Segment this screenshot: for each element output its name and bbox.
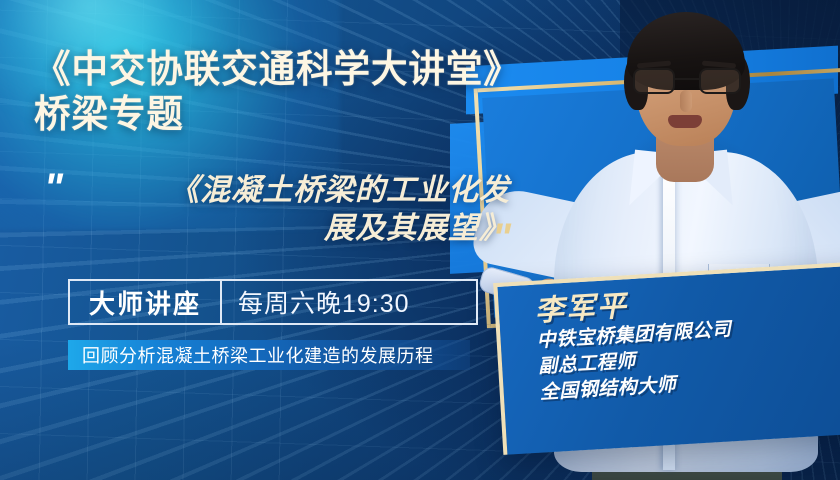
headline-line-2: 桥梁专题: [34, 93, 514, 138]
lecture-subtitle: 《混凝土桥梁的工业化发 展及其展望》: [90, 172, 510, 249]
lecture-info-box: 大师讲座 每周六晚19:30: [68, 279, 478, 325]
glasses-icon: [633, 68, 741, 94]
lecture-series-label: 大师讲座: [70, 281, 222, 323]
subtitle-line-1: 《混凝土桥梁的工业化发: [90, 172, 510, 210]
lecture-schedule: 每周六晚19:30: [222, 281, 476, 323]
portrait-mouth: [668, 115, 702, 128]
subtitle-line-2: 展及其展望》: [90, 210, 510, 248]
headline-line-1: 《中交协联交通科学大讲堂》: [34, 48, 514, 93]
quote-mark-close: ": [492, 218, 509, 258]
speaker-info-text: 李军平 中铁宝桥集团有限公司 副总工程师 全国钢结构大师: [493, 261, 840, 455]
caption-text: 回顾分析混凝土桥梁工业化建造的发展历程: [82, 342, 434, 368]
quote-mark-open: ": [44, 168, 61, 208]
caption-bar: 回顾分析混凝土桥梁工业化建造的发展历程: [68, 340, 470, 370]
subtitle-quote-block: " 《混凝土桥梁的工业化发 展及其展望》 ": [44, 168, 544, 278]
event-poster: 李军平 中铁宝桥集团有限公司 副总工程师 全国钢结构大师 《中交协联交通科学大讲…: [0, 0, 840, 480]
page-title: 《中交协联交通科学大讲堂》 桥梁专题: [34, 48, 534, 138]
